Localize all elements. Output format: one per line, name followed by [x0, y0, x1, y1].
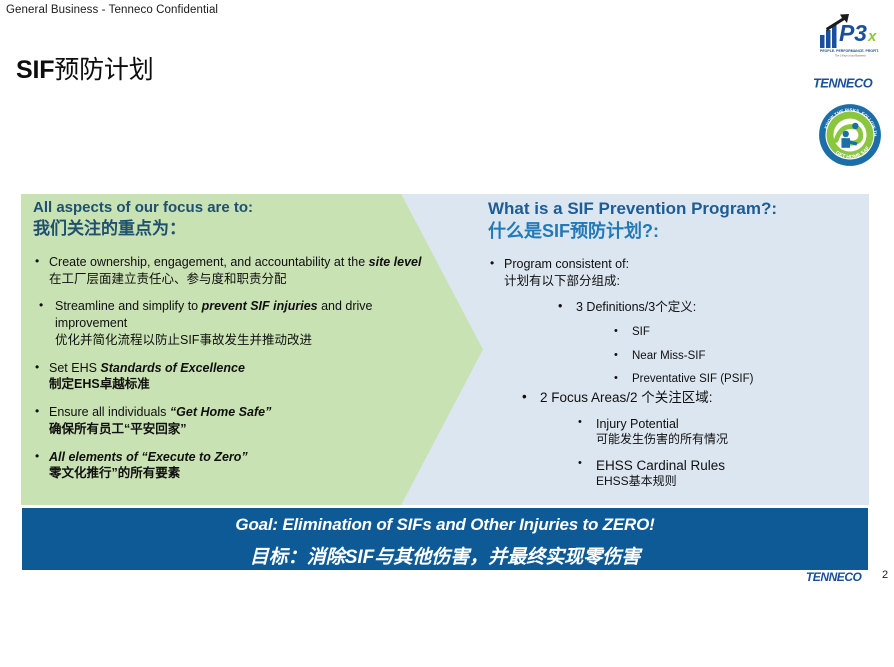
- page-title: SIF预防计划: [16, 50, 154, 86]
- get-home-safe-badge: KNOW THE RISKS. FOLLOW THE PROCESS. GET …: [818, 103, 882, 167]
- list-item: Preventative SIF (PSIF): [612, 372, 868, 387]
- list-item: Near Miss-SIF: [612, 349, 868, 364]
- goal-text-cjk: 目标：消除SIF与其他伤害，并最终实现零伤害: [22, 542, 868, 569]
- svg-text:x: x: [867, 28, 877, 45]
- list-item: 3 Definitions/3个定义: SIF Near Miss-SIF Pr…: [556, 299, 868, 387]
- bullet-text-pre: Ensure all individuals: [49, 405, 170, 419]
- bullet-text-pre: Streamline and simplify to: [55, 299, 202, 313]
- bullet-text-emphasis: All elements of “Execute to Zero”: [49, 450, 248, 464]
- left-heading-en: All aspects of our focus are to:: [33, 198, 445, 218]
- footer-tenneco-logo: TENNECO: [805, 569, 879, 585]
- group-label: 2 Focus Areas/2 个关注区域:: [540, 390, 713, 405]
- list-item: Set EHS Standards of Excellence 制定EHS卓越标…: [33, 360, 445, 394]
- svg-text:TENNECO: TENNECO: [813, 75, 873, 90]
- svg-text:The 3 Keys of our Business: The 3 Keys of our Business: [835, 55, 866, 58]
- left-column: All aspects of our focus are to: 我们关注的重点…: [33, 198, 445, 482]
- left-heading-cjk: 我们关注的重点为：: [33, 218, 445, 240]
- bullet-text-cjk: 计划有以下部分组成:: [504, 273, 868, 290]
- focus-areas-sublist: Injury Potential 可能发生伤害的所有情况 EHSS Cardin…: [540, 416, 868, 490]
- bullet-text-emphasis: “Get Home Safe”: [170, 405, 271, 419]
- page-title-en: SIF: [16, 56, 54, 84]
- page-title-cjk: 预防计划: [54, 56, 153, 84]
- sub-item-en: EHSS Cardinal Rules: [596, 458, 725, 473]
- tenneco-logo: TENNECO: [812, 74, 888, 92]
- right-column: What is a SIF Prevention Program?: 什么是SI…: [488, 198, 868, 490]
- bullet-text-emphasis: Standards of Excellence: [100, 361, 245, 375]
- bullet-text-emphasis: prevent SIF injuries: [202, 299, 318, 313]
- list-item: Streamline and simplify to prevent SIF i…: [33, 298, 445, 348]
- bullet-text-en: Program consistent of:: [504, 257, 629, 271]
- sub-item-en: SIF: [632, 326, 650, 338]
- svg-text:PEOPLE. PERFORMANCE. PROFIT.: PEOPLE. PERFORMANCE. PROFIT.: [820, 49, 879, 53]
- right-bullet-list: Program consistent of: 计划有以下部分组成: 3 Defi…: [488, 256, 868, 490]
- svg-text:TENNECO: TENNECO: [806, 570, 863, 584]
- list-item: Injury Potential 可能发生伤害的所有情况: [576, 416, 868, 448]
- bullet-text-cjk: 在工厂层面建立责任心、参与度和职责分配: [49, 271, 445, 288]
- goal-banner: Goal: Elimination of SIFs and Other Inju…: [22, 508, 868, 570]
- bullet-text-cjk: 零文化推行”的所有要素: [49, 465, 445, 482]
- bullet-text-emphasis: site level: [369, 255, 422, 269]
- page-number: 2: [882, 569, 888, 581]
- goal-text-en: Goal: Elimination of SIFs and Other Inju…: [22, 515, 868, 535]
- p3x-logo: P3 x PEOPLE. PERFORMANCE. PROFIT. The 3 …: [816, 12, 884, 58]
- bullet-text-pre: Set EHS: [49, 361, 100, 375]
- bullet-text-pre: Create ownership, engagement, and accoun…: [49, 255, 369, 269]
- right-heading-en: What is a SIF Prevention Program?:: [488, 198, 868, 220]
- list-item: SIF: [612, 325, 868, 340]
- list-item: 2 Focus Areas/2 个关注区域: Injury Potential …: [520, 389, 868, 490]
- svg-text:P3: P3: [839, 20, 867, 46]
- sub-item-en: Injury Potential: [596, 417, 679, 431]
- list-item: All elements of “Execute to Zero” 零文化推行”…: [33, 449, 445, 483]
- sub-item-en: Preventative SIF (PSIF): [632, 373, 753, 385]
- list-item: EHSS Cardinal Rules EHSS基本规则: [576, 457, 868, 490]
- definitions-sublist: SIF Near Miss-SIF Preventative SIF (PSIF…: [576, 325, 868, 388]
- sub-item-en: Near Miss-SIF: [632, 350, 705, 362]
- sub-item-cjk: EHSS基本规则: [596, 474, 868, 490]
- confidentiality-label: General Business - Tenneco Confidential: [6, 4, 218, 16]
- bullet-text-cjk: 制定EHS卓越标准: [49, 376, 445, 393]
- group-label: 3 Definitions/3个定义:: [576, 300, 696, 314]
- bullet-text-cjk: 确保所有员工“平安回家”: [49, 421, 445, 438]
- list-item: Ensure all individuals “Get Home Safe” 确…: [33, 404, 445, 438]
- sub-item-cjk: 可能发生伤害的所有情况: [596, 432, 868, 448]
- bullet-text-cjk: 优化并简化流程以防止SIF事故发生并推动改进: [55, 332, 445, 349]
- list-item: Program consistent of: 计划有以下部分组成: 3 Defi…: [488, 256, 868, 490]
- right-heading-cjk: 什么是SIF预防计划?:: [488, 220, 868, 243]
- left-bullet-list: Create ownership, engagement, and accoun…: [33, 254, 445, 482]
- list-item: Create ownership, engagement, and accoun…: [33, 254, 445, 288]
- definitions-group: 3 Definitions/3个定义: SIF Near Miss-SIF Pr…: [504, 299, 868, 490]
